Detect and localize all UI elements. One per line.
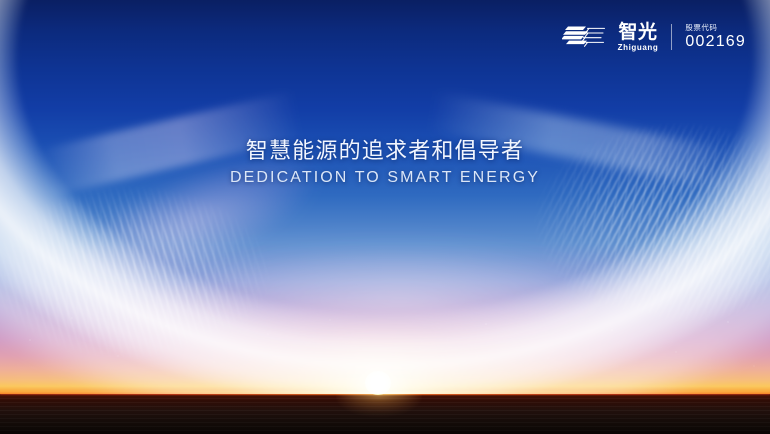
stock-code-label: 股票代码 <box>685 24 717 32</box>
zhiguang-flow-lines-logo-icon <box>562 24 608 50</box>
sky-gradient <box>0 0 770 434</box>
stock-code-block: 股票代码 002169 <box>685 24 746 51</box>
brand-wordmark: 智光 Zhiguang <box>618 23 659 52</box>
brand-name-pinyin: Zhiguang <box>618 44 659 52</box>
stock-code-value: 002169 <box>685 34 746 50</box>
brand-logo-bar[interactable]: 智光 Zhiguang 股票代码 002169 <box>562 18 746 56</box>
brand-name-chinese: 智光 <box>619 23 658 42</box>
ocean-surface <box>0 394 770 434</box>
logo-divider <box>671 24 672 50</box>
hero-banner: 智慧能源的追求者和倡导者 DEDICATION TO SMART ENERGY <box>0 0 770 434</box>
